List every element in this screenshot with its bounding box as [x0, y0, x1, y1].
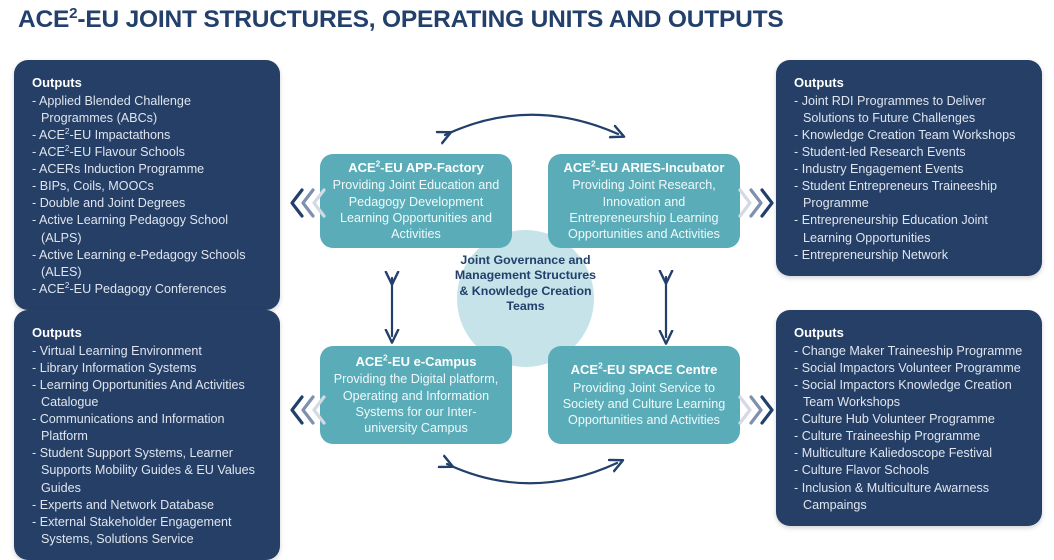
outputs-heading: Outputs [794, 324, 1026, 342]
output-list-item: Industry Engagement Events [794, 161, 1026, 178]
output-list-item: Entrepreneurship Network [794, 247, 1026, 264]
outputs-panel-top-left: Outputs Applied Blended Challenge Progra… [14, 60, 280, 310]
output-list-item: Library Information Systems [32, 360, 264, 377]
output-list-item: Joint RDI Programmes to Deliver Solution… [794, 93, 1026, 127]
output-list-item: Change Maker Traineeship Programme [794, 343, 1026, 360]
output-list-item: ACE2-EU Pedagogy Conferences [32, 281, 264, 298]
unit-title-post: -EU e-Campus [388, 354, 477, 369]
output-list-item: Inclusion & Multiculture Awarness Campai… [794, 480, 1026, 514]
outputs-panel-bottom-left: Outputs Virtual Learning EnvironmentLibr… [14, 310, 280, 560]
page-title: ACE2-EU JOINT STRUCTURES, OPERATING UNIT… [18, 6, 784, 34]
unit-box-space-centre[interactable]: ACE2-EU SPACE Centre Providing Joint Ser… [548, 346, 740, 444]
output-list-item: Social Impactors Knowledge Creation Team… [794, 377, 1026, 411]
output-list-item: Virtual Learning Environment [32, 343, 264, 360]
output-list-item: ACERs Induction Programme [32, 161, 264, 178]
unit-title-post: -EU APP-Factory [380, 160, 484, 175]
output-list-item: Learning Opportunities And Activities Ca… [32, 377, 264, 411]
central-hub-label: Joint Governance and Management Structur… [449, 253, 602, 315]
unit-desc-app-factory: Providing Joint Education and Pedagogy D… [330, 177, 502, 242]
output-list-item: Double and Joint Degrees [32, 195, 264, 212]
outputs-heading: Outputs [32, 74, 264, 92]
page-title-post: -EU JOINT STRUCTURES, OPERATING UNITS AN… [77, 6, 783, 33]
outputs-list-bottom-right: Change Maker Traineeship ProgrammeSocial… [794, 343, 1026, 514]
unit-title-app-factory: ACE2-EU APP-Factory [330, 160, 502, 177]
output-list-item: Culture Flavor Schools [794, 462, 1026, 479]
outputs-list-top-left: Applied Blended Challenge Programmes (AB… [32, 93, 264, 299]
output-list-item: External Stakeholder Engagement Systems,… [32, 514, 264, 548]
output-list-item: Communications and Information Platform [32, 411, 264, 445]
output-list-item: Applied Blended Challenge Programmes (AB… [32, 93, 264, 127]
unit-desc-e-campus: Providing the Digital platform, Operatin… [330, 371, 502, 436]
unit-box-app-factory[interactable]: ACE2-EU APP-Factory Providing Joint Educ… [320, 154, 512, 248]
output-list-item: Culture Traineeship Programme [794, 428, 1026, 445]
output-list-item: Experts and Network Database [32, 497, 264, 514]
outputs-list-bottom-left: Virtual Learning EnvironmentLibrary Info… [32, 343, 264, 549]
output-list-item: Student-led Research Events [794, 144, 1026, 161]
output-list-item: BIPs, Coils, MOOCs [32, 178, 264, 195]
output-list-item: Culture Hub Volunteer Programme [794, 411, 1026, 428]
unit-title-pre: ACE [356, 354, 383, 369]
output-list-item: Active Learning e-Pedagogy Schools (ALES… [32, 247, 264, 281]
unit-title-pre: ACE [564, 160, 591, 175]
unit-title-aries-incubator: ACE2-EU ARIES-Incubator [558, 160, 730, 177]
unit-title-post: -EU ARIES-Incubator [596, 160, 725, 175]
output-list-item: Knowledge Creation Team Workshops [794, 127, 1026, 144]
unit-box-aries-incubator[interactable]: ACE2-EU ARIES-Incubator Providing Joint … [548, 154, 740, 248]
page-title-pre: ACE [18, 6, 69, 33]
unit-title-e-campus: ACE2-EU e-Campus [330, 354, 502, 371]
output-list-item: ACE2-EU Impactathons [32, 127, 264, 144]
output-list-item: Student Entrepreneurs Traineeship Progra… [794, 178, 1026, 212]
unit-title-pre: ACE [348, 160, 375, 175]
outputs-panel-bottom-right: Outputs Change Maker Traineeship Program… [776, 310, 1042, 526]
outputs-heading: Outputs [794, 74, 1026, 92]
outputs-heading: Outputs [32, 324, 264, 342]
output-list-item: Multiculture Kaliedoscope Festival [794, 445, 1026, 462]
output-list-item: Student Support Systems, Learner Support… [32, 445, 264, 496]
connector-top-arc [445, 115, 618, 135]
output-list-item: ACE2-EU Flavour Schools [32, 144, 264, 161]
unit-desc-space-centre: Providing Joint Service to Society and C… [558, 380, 730, 429]
output-list-item: Active Learning Pedagogy School (ALPS) [32, 212, 264, 246]
chevrons-right-bottom [740, 397, 772, 423]
output-list-item: Entrepreneurship Education Joint Learnin… [794, 212, 1026, 246]
output-list-item: Social Impactors Volunteer Programme [794, 360, 1026, 377]
unit-title-post: -EU SPACE Centre [603, 362, 718, 377]
unit-desc-aries-incubator: Providing Joint Research, Innovation and… [558, 177, 730, 242]
unit-title-space-centre: ACE2-EU SPACE Centre [558, 362, 730, 379]
chevrons-right-top [740, 190, 772, 216]
unit-title-pre: ACE [571, 362, 598, 377]
outputs-list-top-right: Joint RDI Programmes to Deliver Solution… [794, 93, 1026, 264]
unit-box-e-campus[interactable]: ACE2-EU e-Campus Providing the Digital p… [320, 346, 512, 444]
outputs-panel-top-right: Outputs Joint RDI Programmes to Deliver … [776, 60, 1042, 276]
connector-bottom-arc [447, 463, 617, 483]
